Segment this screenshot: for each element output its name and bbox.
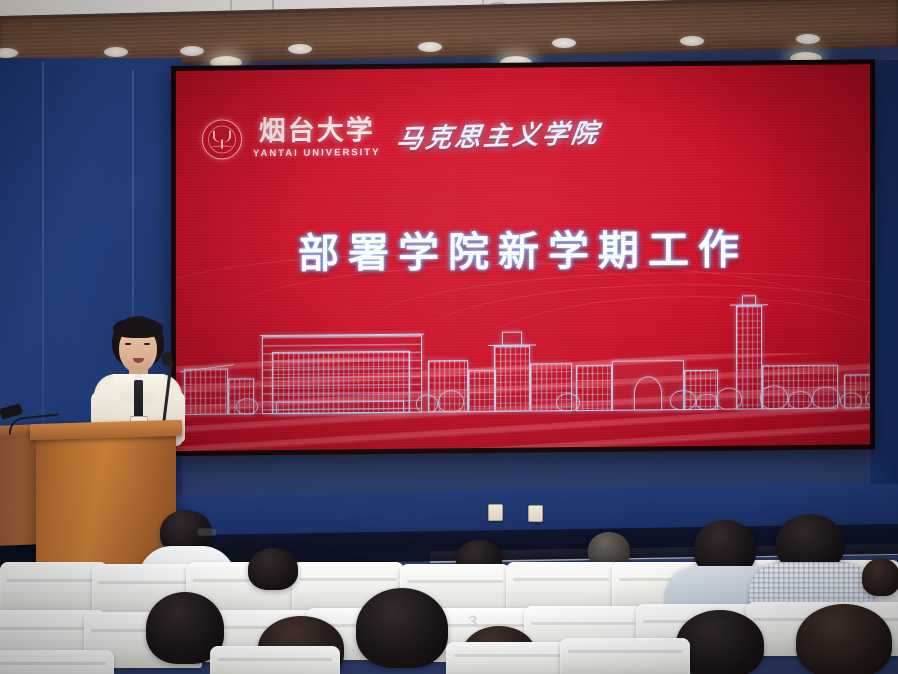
skyline-tree — [670, 390, 696, 410]
skyline-tree — [788, 391, 812, 409]
audience-seating: 3 — [0, 500, 898, 674]
ceiling-fixture — [418, 42, 442, 52]
screen-logo-row: 烟台大学 YANTAI UNIVERSITY 马克思主义学院 — [202, 115, 600, 160]
skyline-tower-cap — [742, 295, 756, 305]
seal-wave — [211, 145, 233, 149]
skyline-tree — [416, 394, 438, 412]
skyline-tree — [760, 385, 788, 409]
skyline-cupola — [502, 332, 522, 346]
school-name-cn: 马克思主义学院 — [395, 120, 602, 152]
skyline-tree — [236, 398, 258, 414]
university-name-cn: 烟台大学 — [259, 117, 375, 145]
ceiling-fixture — [680, 36, 704, 46]
attendee-head — [356, 588, 448, 668]
university-name-block: 烟台大学 YANTAI UNIVERSITY — [253, 117, 380, 159]
speaker-fringe — [113, 318, 163, 338]
seat-number: 3 — [468, 612, 477, 632]
attendee-head — [862, 558, 898, 596]
chair[interactable] — [210, 646, 340, 674]
campus-skyline-illustration — [176, 258, 870, 415]
skyline-tree — [696, 394, 718, 410]
conference-hall-photo: 烟台大学 YANTAI UNIVERSITY 马克思主义学院 部署学院新学期工作 — [0, 0, 898, 674]
led-screen: 烟台大学 YANTAI UNIVERSITY 马克思主义学院 部署学院新学期工作 — [176, 64, 870, 451]
skyline-building — [184, 368, 228, 414]
ceiling-fixture — [552, 38, 576, 48]
attendee-head — [248, 548, 298, 590]
led-screen-frame: 烟台大学 YANTAI UNIVERSITY 马克思主义学院 部署学院新学期工作 — [171, 59, 875, 456]
ceiling-fixture — [104, 47, 128, 57]
skyline-tree — [812, 387, 840, 409]
skyline-archway — [634, 376, 662, 410]
skyline-building — [468, 370, 496, 412]
skyline-tree — [438, 390, 464, 412]
ceiling-fixture — [796, 34, 820, 44]
skyline-building — [576, 365, 612, 411]
skyline-tree — [840, 392, 862, 408]
skyline-tree — [716, 388, 742, 410]
chair[interactable] — [560, 638, 690, 674]
skyline-tree — [556, 393, 580, 411]
chair[interactable] — [0, 650, 114, 674]
ceiling-fixture — [180, 46, 204, 56]
attendee-head — [796, 604, 892, 674]
speaker-lanyard — [134, 380, 143, 420]
seal-y-mark — [213, 131, 231, 143]
university-name-en: YANTAI UNIVERSITY — [253, 147, 380, 159]
yantai-university-seal-icon — [202, 119, 242, 159]
attendee-glasses — [197, 528, 217, 536]
chair[interactable] — [446, 642, 576, 674]
ceiling-fixture — [288, 44, 312, 54]
podium-mic-head — [162, 352, 172, 366]
skyline-tower — [494, 346, 530, 412]
